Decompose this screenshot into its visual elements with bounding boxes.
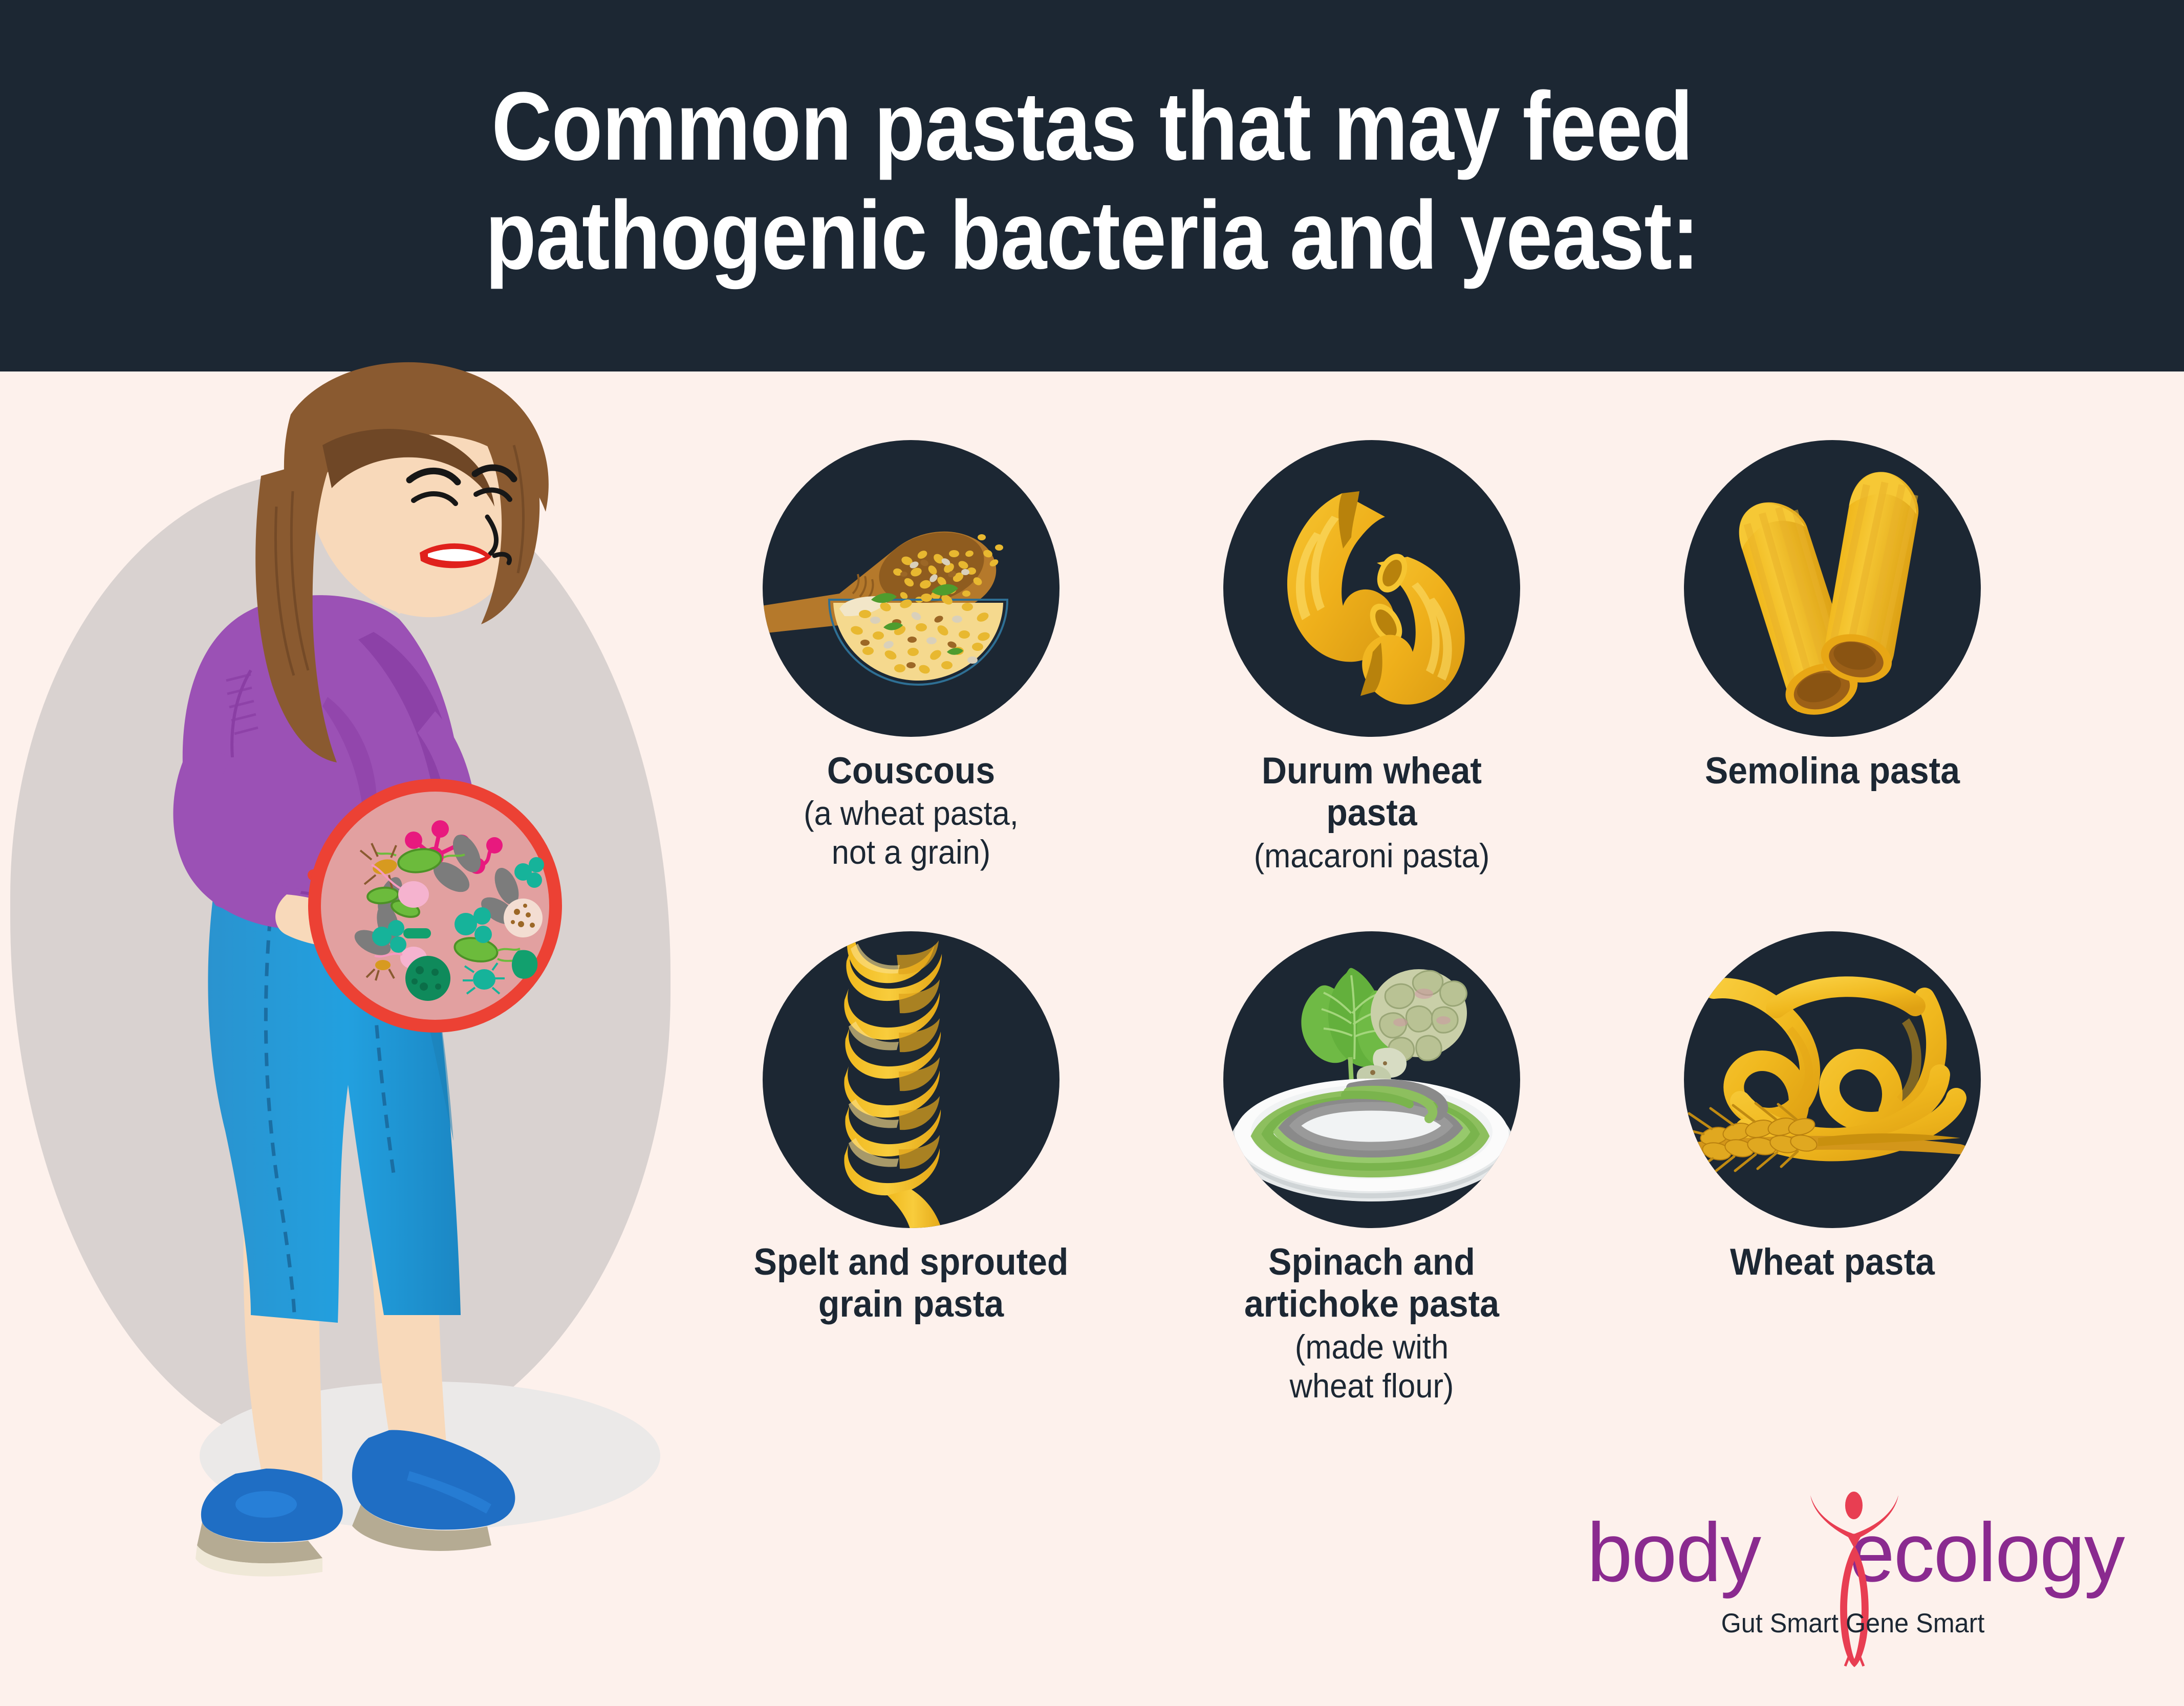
shoe-left	[196, 1469, 343, 1577]
penne-tubes-icon	[1684, 440, 1981, 737]
macaroni-elbows-icon	[1223, 440, 1520, 737]
pasta-item-couscous[interactable]: Couscous (a wheat pasta, not a grain)	[681, 440, 1141, 872]
pasta-item-durum-wheat-pasta[interactable]: Durum wheat pasta (macaroni pasta)	[1141, 440, 1602, 876]
pasta-item-label: Semolina pasta	[1618, 750, 2047, 792]
page-title: Common pastas that may feed pathogenic b…	[485, 72, 1699, 299]
pasta-item-spinach-artichoke-pasta[interactable]: Spinach and artichoke pasta (made with w…	[1141, 931, 1602, 1406]
noodle-swirl-wheat-icon	[1684, 931, 1981, 1228]
pasta-item-label: Durum wheat pasta	[1158, 750, 1586, 835]
pasta-item-note: (macaroni pasta)	[1158, 837, 1586, 876]
couscous-spoon-bowl-icon	[763, 440, 1059, 737]
pasta-item-label: Spinach and artichoke pasta	[1158, 1241, 1586, 1326]
pasta-item-label: Spelt and sprouted grain pasta	[697, 1241, 1126, 1326]
spinach-artichoke-plate-icon	[1223, 931, 1520, 1228]
pasta-item-spelt-sprouted-grain-pasta[interactable]: Spelt and sprouted grain pasta	[681, 931, 1141, 1328]
pasta-item-note: (made with wheat flour)	[1158, 1328, 1586, 1406]
gut-bacteria-magnifier	[308, 779, 562, 1033]
pasta-item-note: (a wheat pasta, not a grain)	[697, 794, 1126, 872]
pasta-item-label: Wheat pasta	[1618, 1241, 2047, 1283]
logo-figure-icon	[1805, 1484, 1902, 1668]
logo-tagline: Gut Smart Gene Smart	[1595, 1608, 2111, 1639]
woman-with-stomach-pain-illustration	[82, 353, 727, 1591]
shoe-right	[352, 1430, 515, 1551]
pasta-item-wheat-pasta[interactable]: Wheat pasta	[1602, 931, 2063, 1285]
body-ecology-logo[interactable]: body__ecology Gut Smart Gene Smart	[1582, 1499, 2124, 1668]
header-bar: Common pastas that may feed pathogenic b…	[0, 0, 2184, 371]
logo-word-body: body	[1587, 1505, 1761, 1599]
pasta-items-grid: Couscous (a wheat pasta, not a grain)	[681, 440, 2114, 1556]
pasta-item-label: Couscous	[697, 750, 1126, 792]
fusilli-spiral-icon	[763, 931, 1059, 1228]
pasta-item-semolina-pasta[interactable]: Semolina pasta	[1602, 440, 2063, 794]
